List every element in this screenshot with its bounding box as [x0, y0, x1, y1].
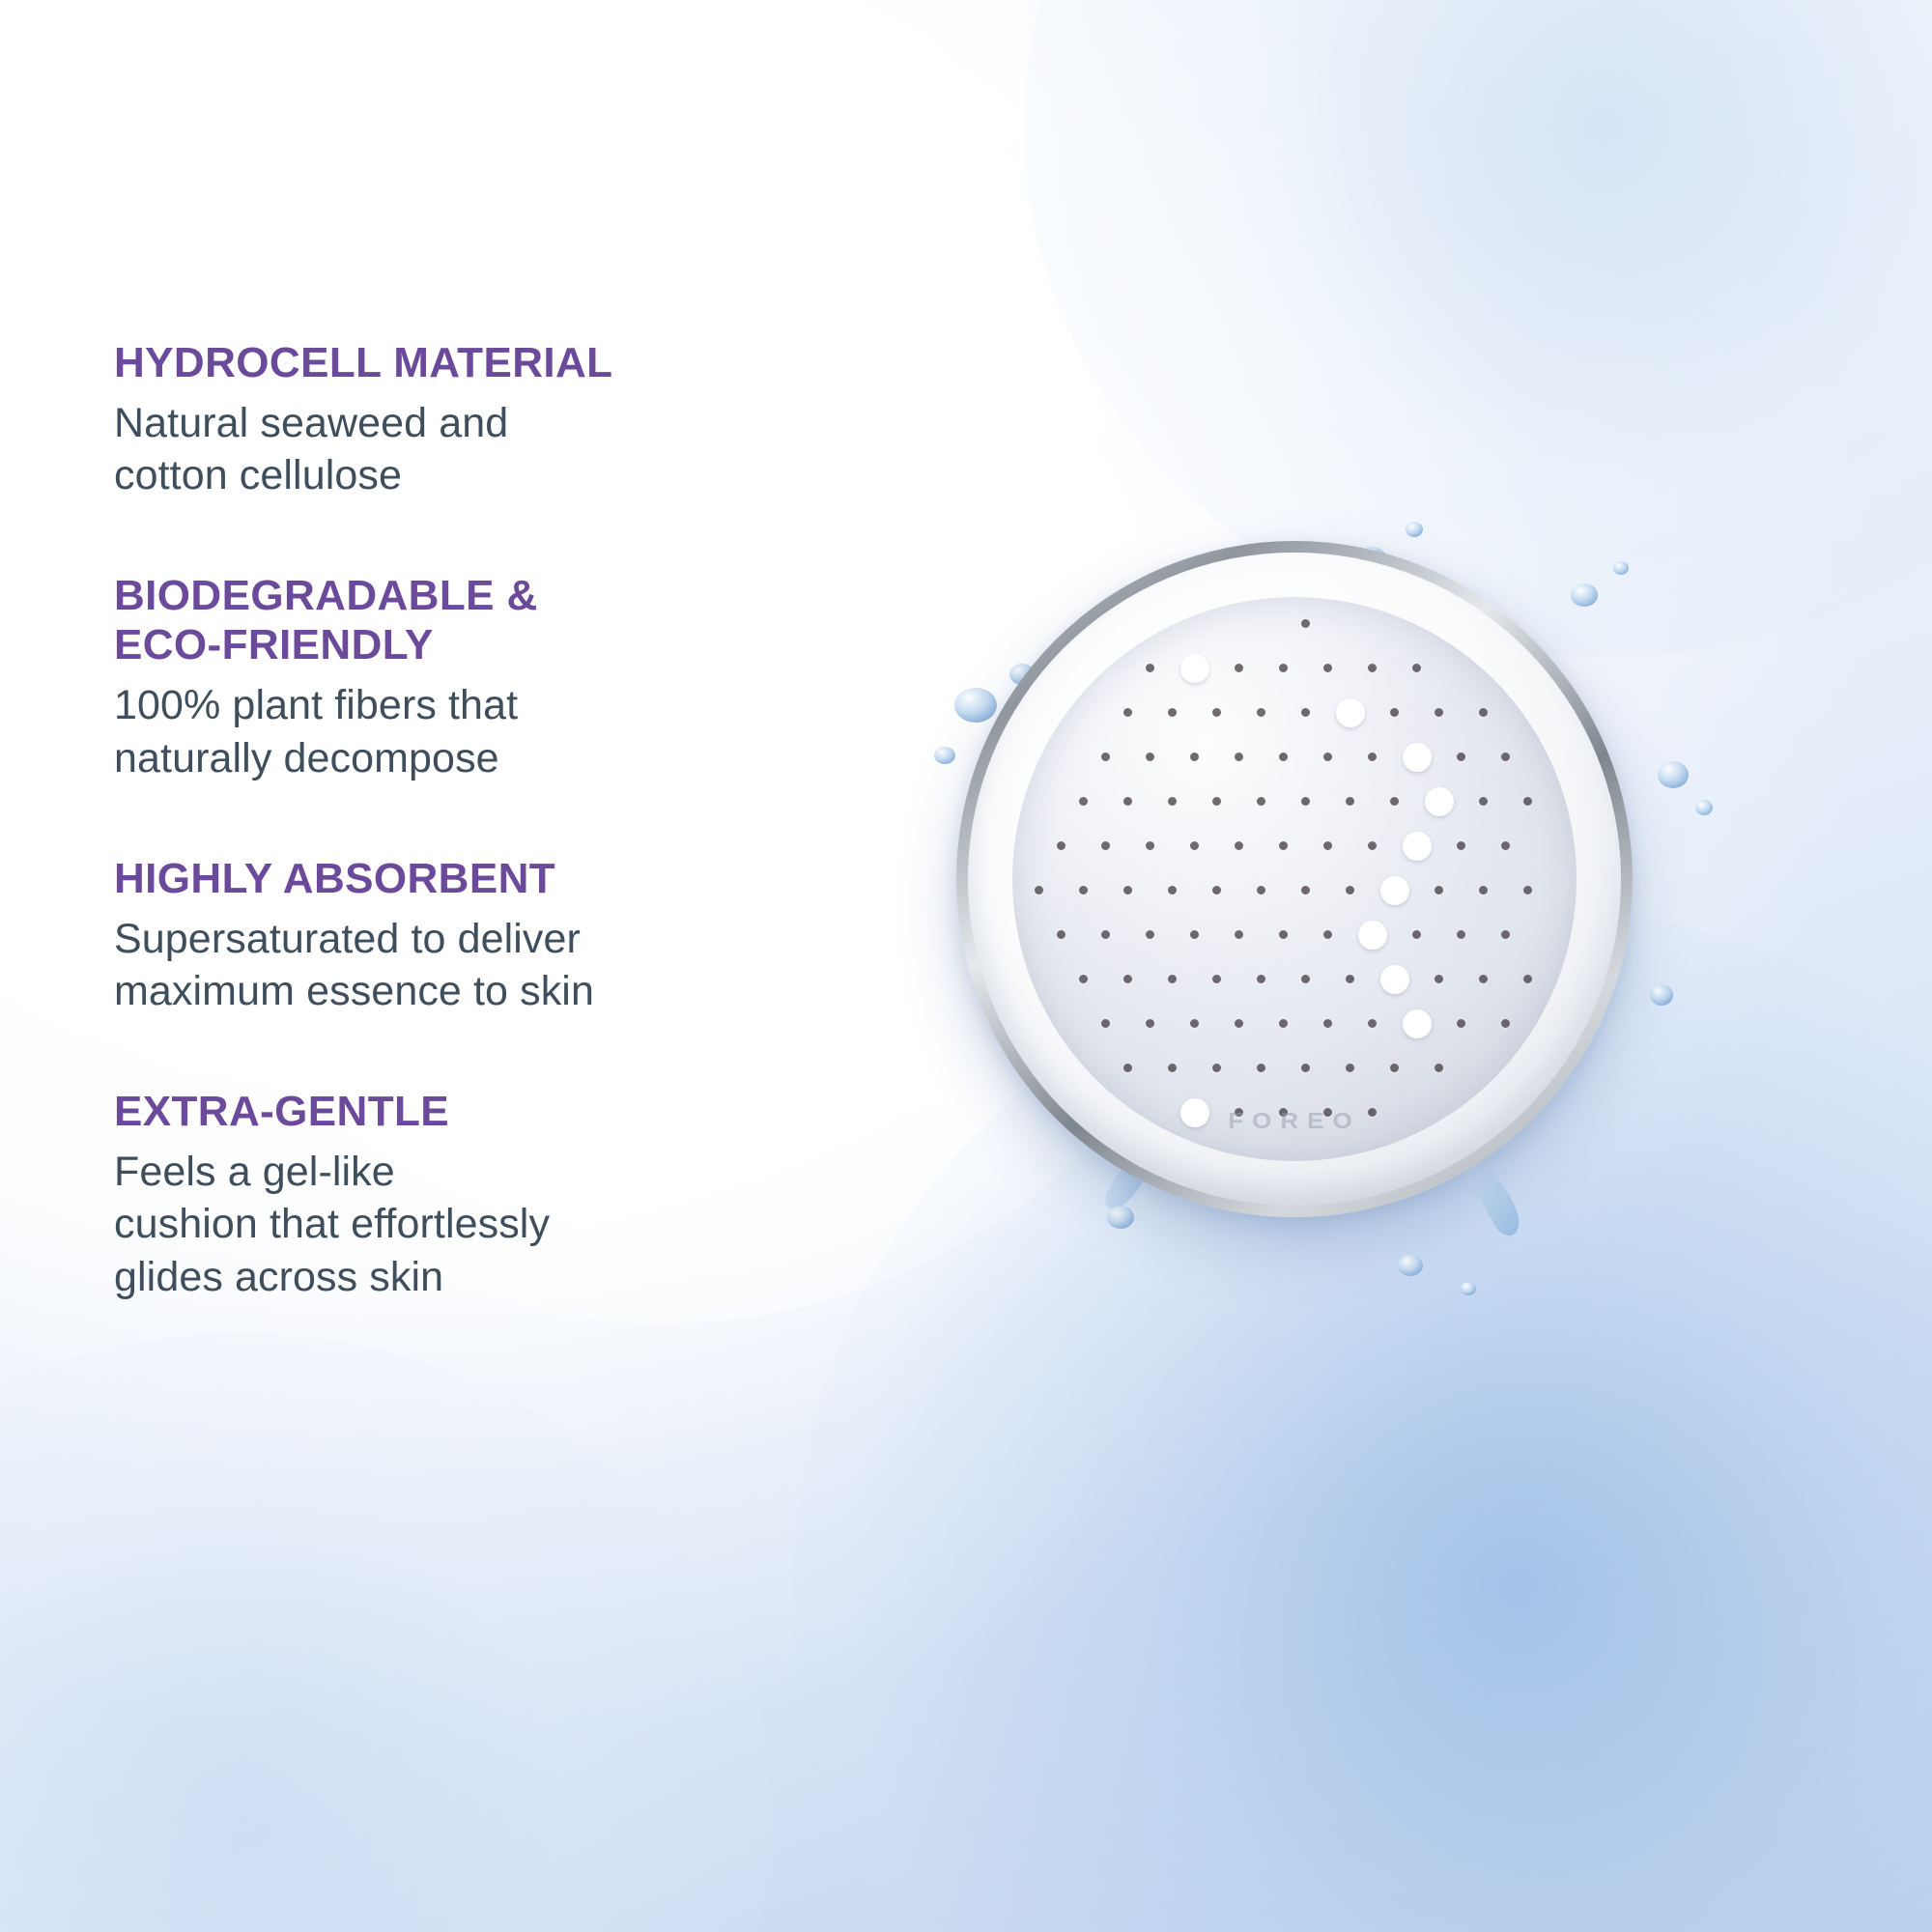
- membrane-pore-small: [1523, 797, 1532, 806]
- membrane-pore-small: [1457, 930, 1465, 939]
- membrane-pore-small: [1323, 753, 1332, 761]
- membrane-pore-small: [1168, 708, 1177, 717]
- membrane-pore-large: [1403, 832, 1432, 861]
- membrane-pore-small: [1079, 797, 1088, 806]
- membrane-pore-small: [1390, 797, 1399, 806]
- feature-item-hydrocell-material: HYDROCELL MATERIAL Natural seaweed and c…: [114, 338, 867, 501]
- membrane-pore-small: [1212, 886, 1221, 895]
- membrane-pore-small: [1479, 708, 1488, 717]
- disc-perforated-membrane: FOREO: [1012, 597, 1577, 1161]
- membrane-pore-small: [1101, 930, 1110, 939]
- feature-description: Supersaturated to deliver maximum essenc…: [114, 913, 867, 1017]
- feature-title: BIODEGRADABLE & ECO-FRIENDLY: [114, 571, 867, 669]
- membrane-pore-small: [1212, 708, 1221, 717]
- membrane-pore-small: [1435, 708, 1443, 717]
- membrane-pore-small: [1057, 841, 1065, 850]
- membrane-pore-small: [1346, 975, 1354, 983]
- feature-item-biodegradable-eco-friendly: BIODEGRADABLE & ECO-FRIENDLY 100% plant …: [114, 571, 867, 783]
- membrane-pore-small: [1035, 886, 1043, 895]
- membrane-pore-small: [1301, 1064, 1310, 1072]
- membrane-pore-small: [1523, 886, 1532, 895]
- membrane-pore-small: [1479, 797, 1488, 806]
- membrane-pore-small: [1523, 975, 1532, 983]
- membrane-pore-small: [1235, 664, 1243, 672]
- membrane-pore-small: [1146, 1019, 1154, 1028]
- membrane-pore-small: [1101, 753, 1110, 761]
- membrane-pore-small: [1323, 664, 1332, 672]
- membrane-pore-small: [1212, 1064, 1221, 1072]
- membrane-pore-small: [1412, 664, 1421, 672]
- membrane-pore-small: [1168, 797, 1177, 806]
- membrane-pore-small: [1301, 708, 1310, 717]
- background-glow-bottom-left: [0, 1333, 773, 1932]
- membrane-pore-small: [1190, 930, 1199, 939]
- membrane-pore-small: [1123, 886, 1132, 895]
- membrane-pore-small: [1435, 886, 1443, 895]
- membrane-pore-small: [1368, 1019, 1377, 1028]
- feature-title: EXTRA-GENTLE: [114, 1087, 867, 1136]
- membrane-pore-small: [1279, 841, 1288, 850]
- infographic-canvas: HYDROCELL MATERIAL Natural seaweed and c…: [0, 0, 1932, 1932]
- membrane-pore-small: [1457, 1019, 1465, 1028]
- membrane-pore-large: [1358, 921, 1387, 950]
- membrane-pore-large: [1180, 1098, 1209, 1127]
- membrane-pore-large: [1336, 698, 1365, 727]
- membrane-pore-small: [1301, 975, 1310, 983]
- membrane-pore-small: [1257, 975, 1265, 983]
- membrane-pore-large: [1380, 965, 1409, 994]
- membrane-pore-small: [1168, 1064, 1177, 1072]
- membrane-pore-small: [1123, 708, 1132, 717]
- membrane-pore-small: [1257, 708, 1265, 717]
- membrane-pore-small: [1501, 841, 1510, 850]
- membrane-pore-large: [1180, 654, 1209, 683]
- membrane-pore-small: [1168, 975, 1177, 983]
- membrane-pore-small: [1346, 886, 1354, 895]
- membrane-pore-small: [1457, 753, 1465, 761]
- membrane-pore-small: [1123, 975, 1132, 983]
- feature-title: HIGHLY ABSORBENT: [114, 854, 867, 903]
- membrane-pore-small: [1146, 664, 1154, 672]
- membrane-pore-small: [1279, 664, 1288, 672]
- membrane-pore-small: [1279, 930, 1288, 939]
- feature-item-highly-absorbent: HIGHLY ABSORBENT Supersaturated to deliv…: [114, 854, 867, 1017]
- membrane-pore-small: [1368, 664, 1377, 672]
- membrane-pore-small: [1457, 841, 1465, 850]
- sheet-mask-disc: FOREO: [956, 541, 1633, 1217]
- membrane-pore-small: [1368, 753, 1377, 761]
- membrane-pore-large: [1403, 1009, 1432, 1038]
- membrane-pore-small: [1279, 1108, 1288, 1117]
- membrane-pore-small: [1235, 841, 1243, 850]
- feature-title: HYDROCELL MATERIAL: [114, 338, 867, 387]
- membrane-pore-small: [1479, 886, 1488, 895]
- membrane-pore-small: [1323, 1019, 1332, 1028]
- membrane-pore-small: [1323, 1108, 1332, 1117]
- membrane-pore-large: [1380, 876, 1409, 905]
- membrane-pore-small: [1101, 841, 1110, 850]
- membrane-pore-small: [1390, 708, 1399, 717]
- membrane-pore-small: [1235, 930, 1243, 939]
- membrane-pore-small: [1301, 886, 1310, 895]
- membrane-pore-small: [1346, 1064, 1354, 1072]
- membrane-pore-small: [1168, 886, 1177, 895]
- feature-item-extra-gentle: EXTRA-GENTLE Feels a gel-like cushion th…: [114, 1087, 867, 1303]
- membrane-pore-small: [1190, 753, 1199, 761]
- membrane-pore-small: [1123, 1064, 1132, 1072]
- membrane-pore-small: [1346, 797, 1354, 806]
- membrane-pore-small: [1257, 886, 1265, 895]
- membrane-pore-small: [1101, 1019, 1110, 1028]
- membrane-pore-small: [1301, 619, 1310, 628]
- membrane-pore-small: [1435, 1064, 1443, 1072]
- membrane-pore-small: [1257, 1064, 1265, 1072]
- membrane-pore-small: [1257, 797, 1265, 806]
- membrane-pore-small: [1212, 797, 1221, 806]
- membrane-pore-small: [1368, 841, 1377, 850]
- membrane-pore-small: [1146, 841, 1154, 850]
- membrane-pore-small: [1501, 930, 1510, 939]
- membrane-pore-small: [1279, 1019, 1288, 1028]
- membrane-pore-small: [1212, 975, 1221, 983]
- membrane-pore-small: [1123, 797, 1132, 806]
- membrane-pore-small: [1501, 753, 1510, 761]
- product-image: FOREO: [831, 415, 1758, 1343]
- membrane-pore-small: [1279, 753, 1288, 761]
- membrane-pore-small: [1412, 930, 1421, 939]
- membrane-pore-small: [1190, 1019, 1199, 1028]
- membrane-pore-small: [1235, 1019, 1243, 1028]
- membrane-pore-small: [1435, 975, 1443, 983]
- membrane-pore-small: [1146, 753, 1154, 761]
- membrane-pore-large: [1403, 743, 1432, 772]
- feature-description: Feels a gel-like cushion that effortless…: [114, 1146, 867, 1303]
- membrane-pore-small: [1368, 1108, 1377, 1117]
- membrane-pore-small: [1235, 753, 1243, 761]
- membrane-pore-small: [1190, 841, 1199, 850]
- membrane-pore-large: [1425, 787, 1454, 816]
- membrane-pore-small: [1079, 886, 1088, 895]
- membrane-pore-small: [1479, 975, 1488, 983]
- membrane-pore-small: [1146, 930, 1154, 939]
- membrane-pore-small: [1301, 797, 1310, 806]
- membrane-pore-small: [1323, 841, 1332, 850]
- membrane-pore-small: [1390, 1064, 1399, 1072]
- membrane-pore-small: [1079, 975, 1088, 983]
- membrane-pore-small: [1057, 930, 1065, 939]
- feature-description: Natural seaweed and cotton cellulose: [114, 397, 867, 501]
- membrane-pore-small: [1501, 1019, 1510, 1028]
- membrane-pore-small: [1235, 1108, 1243, 1117]
- feature-list: HYDROCELL MATERIAL Natural seaweed and c…: [114, 338, 867, 1303]
- membrane-pore-small: [1323, 930, 1332, 939]
- feature-description: 100% plant fibers that naturally decompo…: [114, 679, 867, 783]
